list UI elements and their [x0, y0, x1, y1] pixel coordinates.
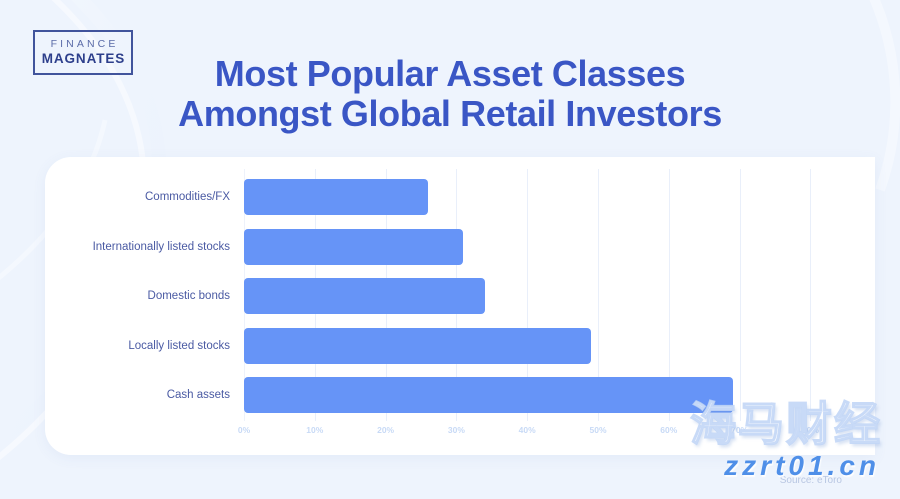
source-note: Source: eToro — [780, 475, 842, 486]
bar-row: Locally listed stocks — [45, 328, 900, 364]
bar-category-label: Domestic bonds — [20, 289, 230, 303]
bar-row: Cash assets — [45, 377, 900, 413]
bar — [244, 377, 733, 413]
bar-category-label: Commodities/FX — [20, 190, 230, 204]
page-title: Most Popular Asset Classes Amongst Globa… — [0, 54, 900, 134]
x-axis-tick-label: 80% — [802, 425, 819, 435]
bar — [244, 179, 428, 215]
x-axis-tick-label: 50% — [589, 425, 606, 435]
title-line-1: Most Popular Asset Classes — [0, 54, 900, 94]
bar — [244, 229, 463, 265]
bar-row: Commodities/FX — [45, 179, 900, 215]
bar-row: Domestic bonds — [45, 278, 900, 314]
title-line-2: Amongst Global Retail Investors — [0, 94, 900, 134]
infographic-canvas: FINANCE MAGNATES Most Popular Asset Clas… — [0, 0, 900, 499]
bar — [244, 278, 485, 314]
x-axis-tick-label: 0% — [238, 425, 250, 435]
x-axis-tick-label: 60% — [660, 425, 677, 435]
logo-line-finance: FINANCE — [48, 38, 119, 51]
bar-row: Internationally listed stocks — [45, 229, 900, 265]
bar-category-label: Cash assets — [20, 388, 230, 402]
x-axis-tick-label: 30% — [448, 425, 465, 435]
x-axis-tick-label: 20% — [377, 425, 394, 435]
bar-category-label: Locally listed stocks — [20, 339, 230, 353]
x-axis-tick-label: 70% — [731, 425, 748, 435]
x-axis-tick-label: 10% — [306, 425, 323, 435]
bar — [244, 328, 591, 364]
x-axis-tick-label: 40% — [519, 425, 536, 435]
bar-category-label: Internationally listed stocks — [20, 240, 230, 254]
bar-chart: Commodities/FXInternationally listed sto… — [45, 157, 900, 455]
